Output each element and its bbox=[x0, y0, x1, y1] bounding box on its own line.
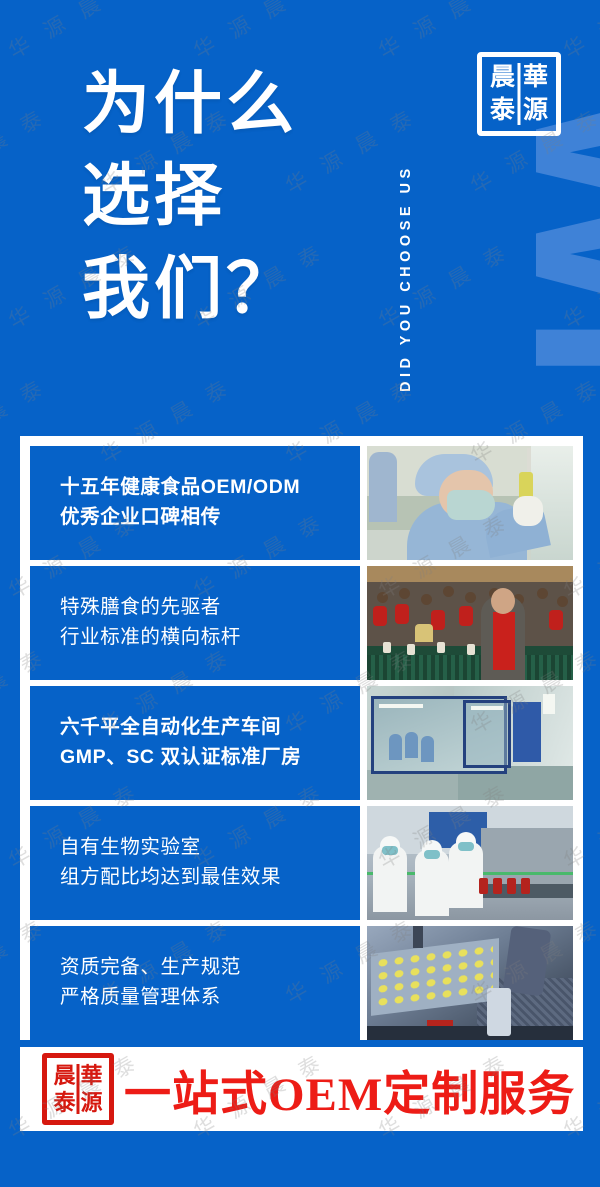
banner-seal-character-tai: 泰 bbox=[51, 1089, 78, 1116]
advantage-card-2-line-2: 行业标准的横向标杆 bbox=[60, 623, 360, 653]
bottom-cta-banner: 晨 華 泰 源 一站式OEM定制服务 bbox=[20, 1047, 583, 1131]
advantage-card-3[interactable]: 六千平全自动化生产车间 GMP、SC 双认证标准厂房 bbox=[30, 686, 573, 800]
banner-seal-character-yuan: 源 bbox=[78, 1089, 105, 1116]
watermark-text: 华 源 晨 泰 bbox=[279, 1180, 423, 1187]
advantage-card-2-photo-conference bbox=[367, 566, 573, 680]
bottom-cta-text: 一站式OEM定制服务 bbox=[124, 1047, 575, 1131]
advantage-card-1-text: 十五年健康食品OEM/ODM 优秀企业口碑相传 bbox=[30, 446, 360, 560]
advantage-card-4-line-2: 组方配比均达到最佳效果 bbox=[60, 863, 360, 893]
advantage-card-2[interactable]: 特殊膳食的先驱者 行业标准的横向标杆 bbox=[30, 566, 573, 680]
seal-character-tai: 泰 bbox=[486, 94, 519, 127]
advantage-card-1-line-2: 优秀企业口碑相传 bbox=[60, 503, 360, 533]
page-title-line-1: 为什么 bbox=[82, 58, 382, 150]
watermark-text: 华 源 晨 泰 bbox=[94, 1180, 238, 1187]
banner-seal-character-grid: 晨 華 泰 源 bbox=[51, 1062, 105, 1116]
page-title-line-3: 我们？ bbox=[82, 243, 382, 335]
advantage-card-4-text: 自有生物实验室 组方配比均达到最佳效果 bbox=[30, 806, 360, 920]
advantage-card-3-photo-cleanroom bbox=[367, 686, 573, 800]
advantage-card-5-line-1: 资质完备、生产规范 bbox=[60, 953, 360, 983]
seal-character-yuan: 源 bbox=[519, 94, 552, 127]
banner-seal-logo: 晨 華 泰 源 bbox=[42, 1053, 114, 1125]
seal-character-grid: 晨 華 泰 源 bbox=[486, 61, 552, 127]
advantage-card-1[interactable]: 十五年健康食品OEM/ODM 优秀企业口碑相传 bbox=[30, 446, 573, 560]
advantage-card-2-text: 特殊膳食的先驱者 行业标准的横向标杆 bbox=[30, 566, 360, 680]
watermark-text: 华 源 晨 泰 bbox=[0, 1180, 53, 1187]
advantage-card-5-line-2: 严格质量管理体系 bbox=[60, 983, 360, 1013]
advantage-card-2-line-1: 特殊膳食的先驱者 bbox=[60, 593, 360, 623]
advantage-card-5[interactable]: 资质完备、生产规范 严格质量管理体系 bbox=[30, 926, 573, 1040]
advantage-card-3-line-2: GMP、SC 双认证标准厂房 bbox=[60, 743, 360, 773]
seal-character-chen: 晨 bbox=[486, 61, 519, 94]
advantage-card-4-photo-lab-workers bbox=[367, 806, 573, 920]
advantage-card-1-photo-qc-inspector bbox=[367, 446, 573, 560]
advantage-card-4[interactable]: 自有生物实验室 组方配比均达到最佳效果 bbox=[30, 806, 573, 920]
header: 为什么 选择 我们？ DID YOU CHOOSE US 晨 華 泰 源 bbox=[0, 0, 600, 436]
advantage-card-5-photo-blister-machine bbox=[367, 926, 573, 1040]
advantage-card-3-line-1: 六千平全自动化生产车间 bbox=[60, 713, 360, 743]
advantage-card-5-text: 资质完备、生产规范 严格质量管理体系 bbox=[30, 926, 360, 1040]
seal-character-hua: 華 bbox=[519, 61, 552, 94]
watermark-text: 华 源 晨 泰 bbox=[464, 1180, 600, 1187]
advantages-card-frame: 十五年健康食品OEM/ODM 优秀企业口碑相传 特殊膳食的先驱者 行业标准的横 bbox=[20, 436, 583, 1040]
advantage-card-4-line-1: 自有生物实验室 bbox=[60, 833, 360, 863]
advantage-card-1-line-1: 十五年健康食品OEM/ODM bbox=[60, 473, 360, 503]
page-title: 为什么 选择 我们？ bbox=[82, 58, 382, 335]
vertical-english-subtitle: DID YOU CHOOSE US bbox=[398, 22, 424, 392]
page-title-line-2: 选择 bbox=[82, 150, 382, 242]
company-seal-logo: 晨 華 泰 源 bbox=[477, 52, 561, 136]
banner-seal-character-chen: 晨 bbox=[51, 1062, 78, 1089]
advantage-card-3-text: 六千平全自动化生产车间 GMP、SC 双认证标准厂房 bbox=[30, 686, 360, 800]
banner-seal-character-hua: 華 bbox=[78, 1062, 105, 1089]
